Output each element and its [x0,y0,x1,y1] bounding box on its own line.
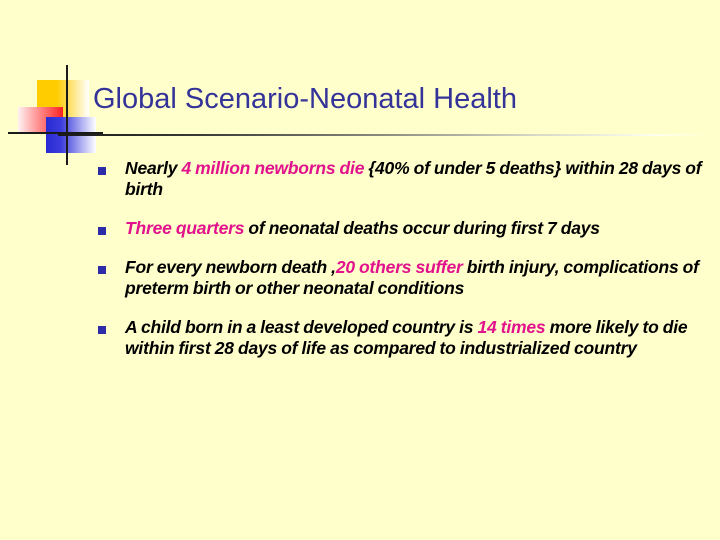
bullet-text: For every newborn death ,20 others suffe… [125,257,708,299]
highlighted-text: 20 others suffer [336,257,463,277]
bullet-item: Three quarters of neonatal deaths occur … [98,218,708,239]
title-divider [58,134,708,136]
bullet-text: Nearly 4 million newborns die {40% of un… [125,158,708,200]
red-square-icon [18,107,63,134]
bullet-item: A child born in a least developed countr… [98,317,708,359]
slide: Global Scenario-Neonatal Health Nearly 4… [0,0,720,540]
page-title: Global Scenario-Neonatal Health [93,82,517,116]
plain-text: For every newborn death , [125,257,336,277]
bullet-text: Three quarters of neonatal deaths occur … [125,218,708,239]
bullet-text: A child born in a least developed countr… [125,317,708,359]
bullet-square-icon [98,167,106,175]
bullet-square-icon [98,326,106,334]
plain-text: Nearly [125,158,181,178]
bullet-item: Nearly 4 million newborns die {40% of un… [98,158,708,200]
bullet-item: For every newborn death ,20 others suffe… [98,257,708,299]
plain-text: of neonatal deaths occur during first 7 … [244,218,600,238]
highlighted-text: 4 million newborns die [181,158,364,178]
highlighted-text: 14 times [477,317,545,337]
plain-text: A child born in a least developed countr… [125,317,477,337]
bullet-square-icon [98,227,106,235]
vertical-line-icon [66,65,68,165]
bullet-list: Nearly 4 million newborns die {40% of un… [98,158,708,359]
yellow-square-icon [37,80,89,117]
bullet-square-icon [98,266,106,274]
highlighted-text: Three quarters [125,218,244,238]
